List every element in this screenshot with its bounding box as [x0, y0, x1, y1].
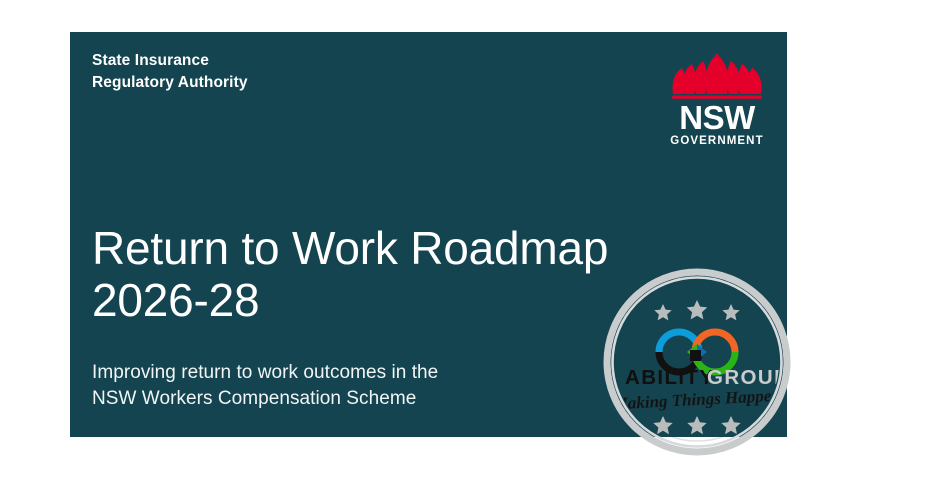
sira-organisation-name: State Insurance Regulatory Authority — [92, 50, 248, 94]
ability-group-seal-graphic: ABILITY GROUP Making Things Happen — [601, 266, 793, 458]
nsw-wordmark: NSW — [661, 101, 773, 135]
badge-brand-primary: ABILITY — [625, 366, 715, 389]
badge-interior: ABILITY GROUP Making Things Happen — [601, 266, 793, 458]
screenshot-canvas: State Insurance Regulatory Authority — [0, 0, 932, 486]
ability-group-badge: ABILITY GROUP Making Things Happen — [601, 266, 793, 458]
government-wordmark: GOVERNMENT — [661, 135, 773, 148]
waratah-flower-icon — [669, 50, 765, 100]
nsw-government-logo: NSW GOVERNMENT — [661, 50, 773, 148]
